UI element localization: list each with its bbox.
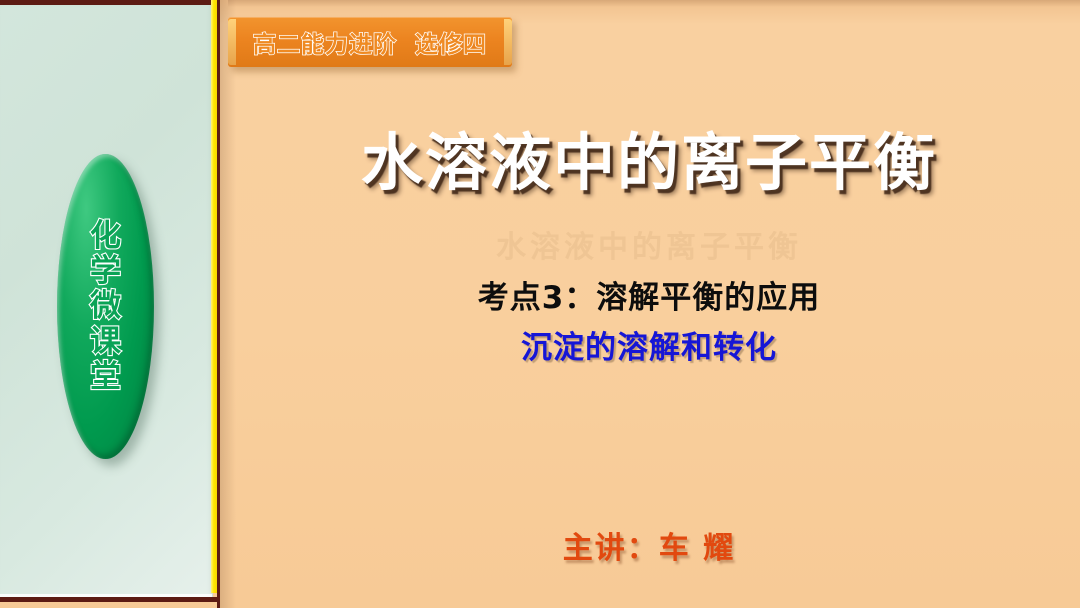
presentation-slide: 化 学 微 课 堂 高二能力进阶 选修四 水溶液中的离子平衡 水溶液中的离子平衡… (0, 0, 1080, 608)
title-watermark: 水溶液中的离子平衡 (218, 222, 1080, 266)
background-top-band (228, 0, 1080, 7)
subtitle-primary: 考点3：溶解平衡的应用 (218, 272, 1080, 317)
brand-char-1: 化 (90, 220, 121, 252)
course-badge-label: 高二能力进阶 选修四 (253, 25, 487, 59)
subtitle-secondary: 沉淀的溶解和转化 (218, 322, 1080, 367)
page-title: 水溶液中的离子平衡 (218, 112, 1080, 202)
brand-char-4: 课 (90, 326, 121, 358)
left-panel-top-border (0, 0, 219, 5)
brand-badge-ellipse: 化 学 微 课 堂 (57, 154, 154, 459)
left-panel-bottom-border (0, 597, 219, 602)
brand-char-3: 微 (90, 290, 121, 322)
brand-char-5: 堂 (90, 361, 121, 393)
presenter-credit: 主讲：车 耀 (218, 523, 1080, 567)
brand-char-2: 学 (90, 255, 121, 287)
course-badge: 高二能力进阶 选修四 (228, 17, 512, 67)
